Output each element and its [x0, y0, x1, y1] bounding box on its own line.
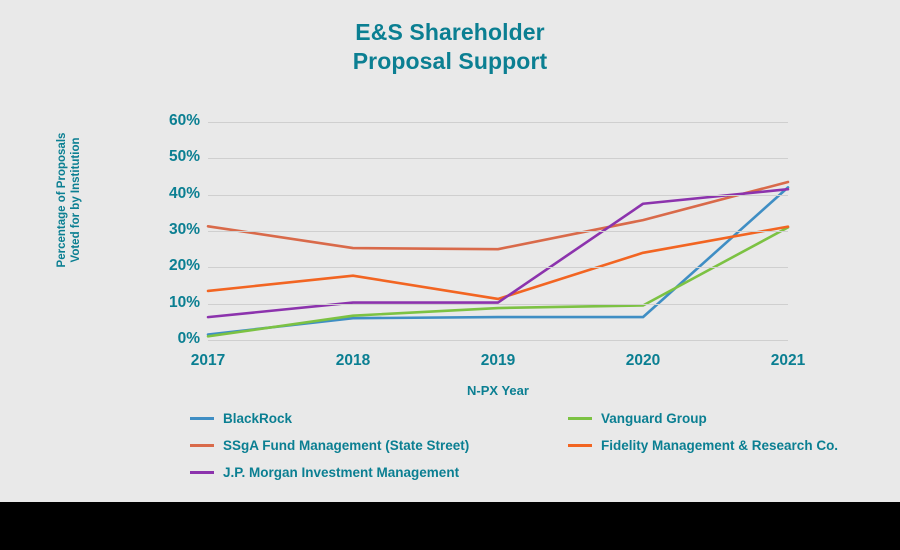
- gridline: [208, 304, 788, 305]
- gridline: [208, 122, 788, 123]
- legend-swatch-icon: [568, 417, 592, 420]
- x-tick-label: 2018: [313, 352, 393, 370]
- x-tick-label: 2020: [603, 352, 683, 370]
- legend-item[interactable]: BlackRock: [190, 408, 292, 428]
- legend-item[interactable]: Fidelity Management & Research Co.: [568, 435, 838, 455]
- series-line: [208, 187, 788, 334]
- gridline: [208, 267, 788, 268]
- chart-legend: BlackRockVanguard GroupSSgA Fund Managem…: [190, 408, 880, 488]
- gridline: [208, 231, 788, 232]
- y-axis-label-line-1: Percentage of Proposals: [55, 110, 69, 290]
- legend-item[interactable]: J.P. Morgan Investment Management: [190, 462, 459, 482]
- y-tick-label: 0%: [140, 330, 200, 348]
- series-line: [208, 227, 788, 299]
- y-tick-label: 40%: [140, 185, 200, 203]
- legend-item[interactable]: Vanguard Group: [568, 408, 707, 428]
- gridline: [208, 195, 788, 196]
- x-tick-label: 2021: [748, 352, 828, 370]
- legend-label: Vanguard Group: [601, 411, 707, 426]
- y-tick-label: 50%: [140, 148, 200, 166]
- y-axis-label: Percentage of Proposals Voted for by Ins…: [55, 110, 95, 290]
- chart-page: E&S Shareholder Proposal Support Percent…: [0, 0, 900, 550]
- legend-label: SSgA Fund Management (State Street): [223, 438, 469, 453]
- gridline: [208, 158, 788, 159]
- y-tick-label: 60%: [140, 112, 200, 130]
- legend-swatch-icon: [190, 417, 214, 420]
- plot-wrapper: Percentage of Proposals Voted for by Ins…: [0, 0, 900, 502]
- legend-label: BlackRock: [223, 411, 292, 426]
- chart-canvas: E&S Shareholder Proposal Support Percent…: [0, 0, 900, 502]
- gridline: [208, 340, 788, 341]
- legend-swatch-icon: [190, 444, 214, 447]
- legend-swatch-icon: [568, 444, 592, 447]
- y-axis-label-line-2: Voted for by Institution: [69, 110, 83, 290]
- x-tick-label: 2017: [168, 352, 248, 370]
- legend-item[interactable]: SSgA Fund Management (State Street): [190, 435, 469, 455]
- legend-label: J.P. Morgan Investment Management: [223, 465, 459, 480]
- x-axis-label: N-PX Year: [208, 383, 788, 398]
- series-line: [208, 182, 788, 249]
- footer-bar: [0, 502, 900, 550]
- legend-swatch-icon: [190, 471, 214, 474]
- x-tick-label: 2019: [458, 352, 538, 370]
- plot-area: [208, 122, 788, 340]
- x-axis-ticks: 20172018201920202021: [208, 352, 788, 374]
- legend-label: Fidelity Management & Research Co.: [601, 438, 838, 453]
- y-tick-label: 20%: [140, 257, 200, 275]
- y-tick-label: 30%: [140, 221, 200, 239]
- y-tick-label: 10%: [140, 294, 200, 312]
